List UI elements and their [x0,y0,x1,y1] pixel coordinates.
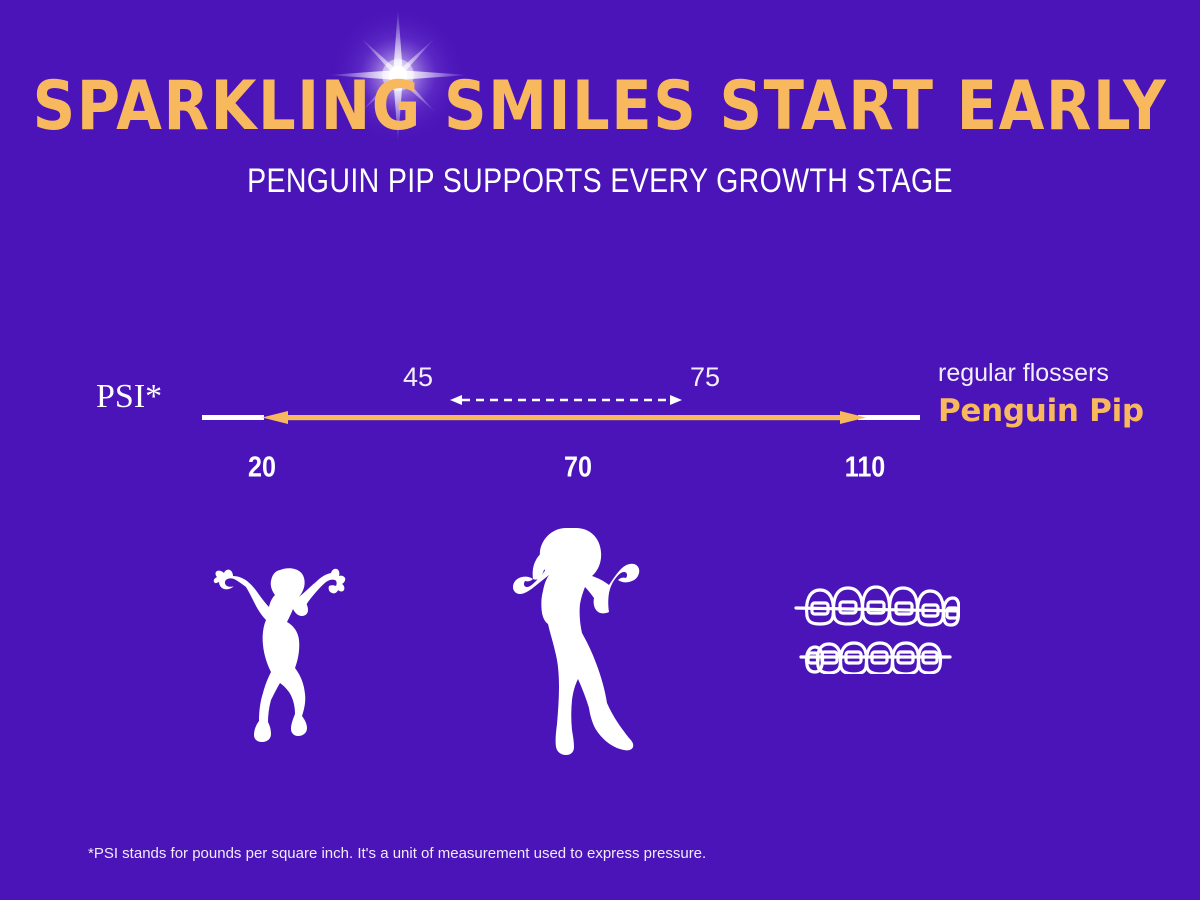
legend-item-penguin-pip: Penguin Pip [938,394,1188,430]
legend-item-regular-flossers: regular flossers [938,360,1188,388]
infographic-canvas: SPARKLING SMILES START EARLY PENGUIN PIP… [0,0,1200,900]
chart-legend: regular flossers Penguin Pip [938,360,1188,429]
page-title: SPARKLING SMILES START EARLY [0,67,1200,146]
psi-range-chart: PSI* 45 75 20 70 110 regular flossers Pe… [0,330,1200,510]
penguin-pip-range-arrow [262,411,866,424]
tick-label-110: 110 [819,451,912,484]
axis-label-psi: PSI* [96,378,162,416]
tick-label-20: 20 [216,451,309,484]
teeth-with-braces-icon [790,578,960,674]
page-subtitle: PENGUIN PIP SUPPORTS EVERY GROWTH STAGE [48,161,1152,201]
toddler-jumping-silhouette [198,552,368,752]
regular-flossers-range-arrow [448,391,684,409]
child-flexing-silhouette [486,522,666,760]
inner-tick-75: 75 [655,362,755,393]
axis-line-left [202,415,264,420]
axis-line-right [858,415,920,420]
tick-label-70: 70 [532,451,625,484]
inner-tick-45: 45 [368,362,468,393]
footnote-text: *PSI stands for pounds per square inch. … [88,845,706,862]
